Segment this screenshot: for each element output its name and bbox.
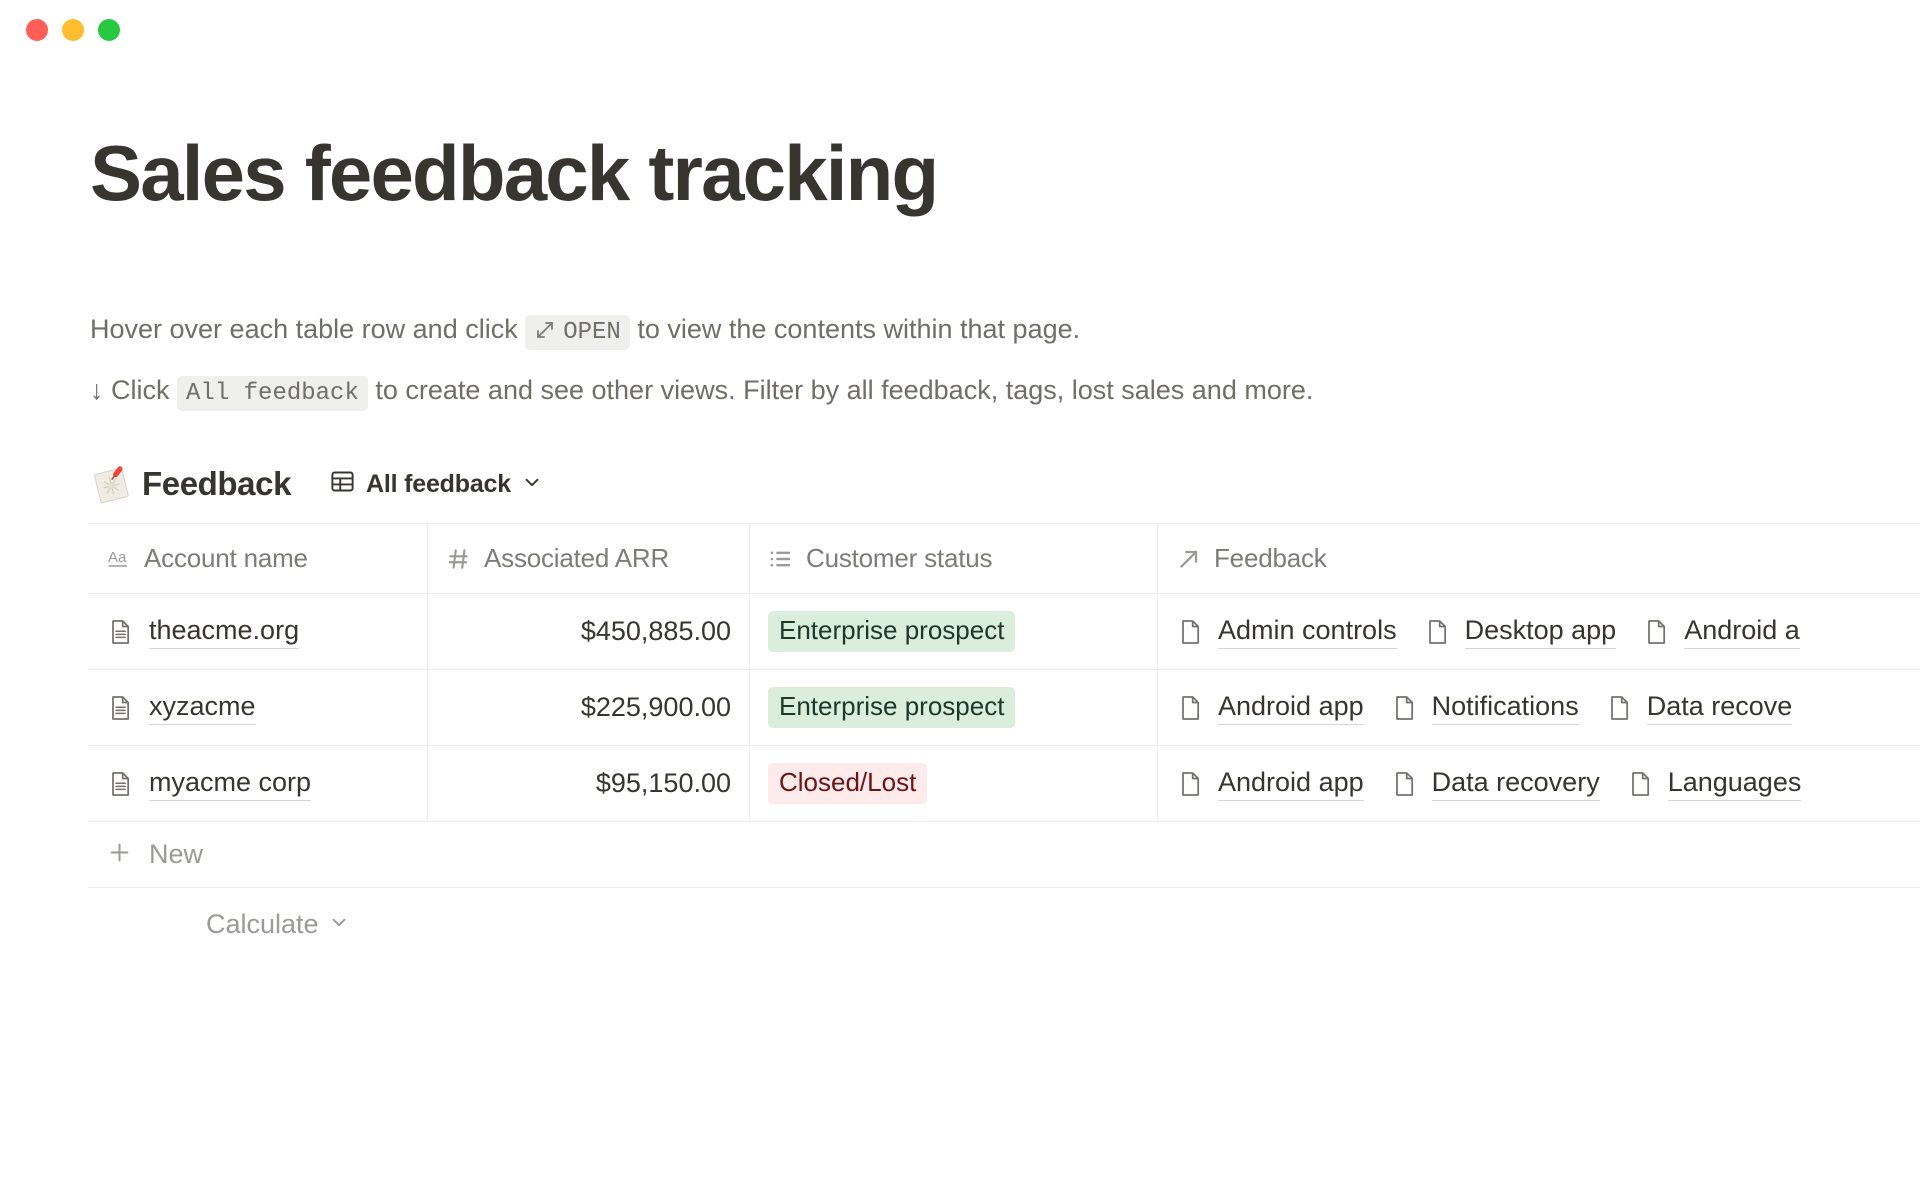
- new-row-label: New: [149, 839, 203, 870]
- table-header-row: Aa Account name Associated ARR: [88, 524, 1920, 594]
- column-header-label: Account name: [144, 543, 308, 574]
- relation-list: Android app Notifications Data recove: [1176, 690, 1818, 725]
- intro-line-1: Hover over each table row and click OPEN…: [90, 302, 1920, 363]
- cell-feedback[interactable]: Android app Notifications Data recove: [1158, 670, 1920, 745]
- database-header: Feedback All feedback: [0, 463, 1920, 505]
- page-icon: [106, 618, 134, 646]
- cell-feedback[interactable]: Admin controls Desktop app Android a: [1158, 594, 1920, 669]
- page-icon: [1176, 694, 1204, 722]
- memo-with-pin-emoji: [90, 463, 132, 505]
- account-name-link[interactable]: theacme.org: [149, 614, 299, 649]
- number-type-icon: [446, 546, 472, 572]
- page-icon: [1176, 618, 1204, 646]
- page-icon: [1423, 618, 1451, 646]
- cell-account-name[interactable]: theacme.org: [88, 594, 428, 669]
- page-content: Sales feedback tracking Hover over each …: [0, 60, 1920, 960]
- page-icon: [106, 770, 134, 798]
- cell-associated-arr[interactable]: $450,885.00: [428, 594, 750, 669]
- close-button[interactable]: [26, 19, 48, 41]
- column-header-label: Feedback: [1214, 543, 1327, 574]
- relation-item[interactable]: Android app: [1176, 690, 1364, 725]
- chevron-down-icon: [328, 909, 350, 940]
- relation-label: Android app: [1218, 766, 1364, 801]
- relation-label: Desktop app: [1465, 614, 1617, 649]
- chevron-down-icon: [521, 471, 543, 498]
- arr-value: $450,885.00: [581, 616, 731, 647]
- all-feedback-code-label: All feedback: [186, 380, 359, 407]
- select-type-icon: [768, 546, 794, 572]
- relation-label: Data recove: [1647, 690, 1793, 725]
- new-row-button[interactable]: New: [88, 822, 1920, 888]
- minimize-button[interactable]: [62, 19, 84, 41]
- intro-line-2: ↓ Click All feedback to create and see o…: [90, 363, 1920, 421]
- cell-associated-arr[interactable]: $225,900.00: [428, 670, 750, 745]
- relation-item[interactable]: Admin controls: [1176, 614, 1397, 649]
- page-icon: [1390, 770, 1418, 798]
- feedback-table: Aa Account name Associated ARR: [88, 523, 1920, 960]
- page-icon: [1176, 770, 1204, 798]
- column-header-label: Customer status: [806, 543, 992, 574]
- table-footer: Calculate: [88, 888, 1920, 960]
- svg-text:Aa: Aa: [108, 549, 127, 566]
- text-type-icon: Aa: [106, 546, 132, 572]
- intro-paragraph: Hover over each table row and click OPEN…: [0, 212, 1920, 421]
- relation-item[interactable]: Languages: [1626, 766, 1802, 801]
- open-code-label: OPEN: [563, 319, 621, 346]
- status-badge: Enterprise prospect: [768, 611, 1015, 653]
- account-name-link[interactable]: myacme corp: [149, 766, 311, 801]
- relation-item[interactable]: Notifications: [1390, 690, 1579, 725]
- intro-line-1-text-after: to view the contents within that page.: [637, 314, 1080, 344]
- intro-line-1-text-before: Hover over each table row and click: [90, 314, 518, 344]
- table-row[interactable]: xyzacme $225,900.00 Enterprise prospect …: [88, 670, 1920, 746]
- relation-item[interactable]: Data recovery: [1390, 766, 1600, 801]
- all-feedback-code-badge[interactable]: All feedback: [177, 376, 368, 411]
- maximize-button[interactable]: [98, 19, 120, 41]
- account-name-link[interactable]: xyzacme: [149, 690, 256, 725]
- window-titlebar: [0, 0, 1920, 60]
- relation-item[interactable]: Android a: [1642, 614, 1800, 649]
- page-icon: [1390, 694, 1418, 722]
- calculate-button[interactable]: Calculate: [198, 905, 358, 944]
- view-name-label: All feedback: [366, 470, 511, 499]
- relation-label: Android a: [1684, 614, 1800, 649]
- column-header-associated-arr[interactable]: Associated ARR: [428, 524, 750, 593]
- relation-list: Android app Data recovery Languages: [1176, 766, 1827, 801]
- arr-value: $95,150.00: [596, 768, 731, 799]
- relation-item[interactable]: Data recove: [1605, 690, 1793, 725]
- table-row[interactable]: theacme.org $450,885.00 Enterprise prosp…: [88, 594, 1920, 670]
- relation-type-icon: [1176, 546, 1202, 572]
- intro-line-2-text-before: Click: [111, 375, 170, 405]
- page-icon: [1605, 694, 1633, 722]
- cell-feedback[interactable]: Android app Data recovery Languages: [1158, 746, 1920, 821]
- cell-account-name[interactable]: myacme corp: [88, 746, 428, 821]
- relation-item[interactable]: Android app: [1176, 766, 1364, 801]
- table-body: theacme.org $450,885.00 Enterprise prosp…: [88, 594, 1920, 822]
- column-header-feedback[interactable]: Feedback: [1158, 524, 1920, 593]
- relation-label: Android app: [1218, 690, 1364, 725]
- status-badge: Enterprise prospect: [768, 687, 1015, 729]
- cell-customer-status[interactable]: Closed/Lost: [750, 746, 1158, 821]
- expand-arrows-icon: [534, 309, 556, 363]
- cell-customer-status[interactable]: Enterprise prospect: [750, 594, 1158, 669]
- relation-label: Data recovery: [1432, 766, 1600, 801]
- page-icon: [1642, 618, 1670, 646]
- page-title: Sales feedback tracking: [0, 60, 1920, 212]
- open-code-badge[interactable]: OPEN: [525, 315, 630, 350]
- table-row[interactable]: myacme corp $95,150.00 Closed/Lost Andro…: [88, 746, 1920, 822]
- cell-associated-arr[interactable]: $95,150.00: [428, 746, 750, 821]
- relation-label: Notifications: [1432, 690, 1579, 725]
- cell-customer-status[interactable]: Enterprise prospect: [750, 670, 1158, 745]
- view-selector[interactable]: All feedback: [321, 464, 551, 504]
- column-header-account-name[interactable]: Aa Account name: [88, 524, 428, 593]
- status-badge: Closed/Lost: [768, 763, 927, 805]
- relation-item[interactable]: Desktop app: [1423, 614, 1617, 649]
- relation-list: Admin controls Desktop app Android a: [1176, 614, 1826, 649]
- cell-account-name[interactable]: xyzacme: [88, 670, 428, 745]
- plus-icon: [106, 839, 133, 871]
- page-icon: [1626, 770, 1654, 798]
- relation-label: Admin controls: [1218, 614, 1397, 649]
- calculate-label: Calculate: [206, 909, 319, 940]
- intro-line-2-text-after: to create and see other views. Filter by…: [375, 375, 1313, 405]
- relation-label: Languages: [1668, 766, 1802, 801]
- column-header-label: Associated ARR: [484, 543, 669, 574]
- page-icon: [106, 694, 134, 722]
- down-arrow-icon: ↓: [90, 375, 104, 405]
- table-view-icon: [329, 468, 356, 500]
- database-title: Feedback: [142, 465, 291, 503]
- arr-value: $225,900.00: [581, 692, 731, 723]
- column-header-customer-status[interactable]: Customer status: [750, 524, 1158, 593]
